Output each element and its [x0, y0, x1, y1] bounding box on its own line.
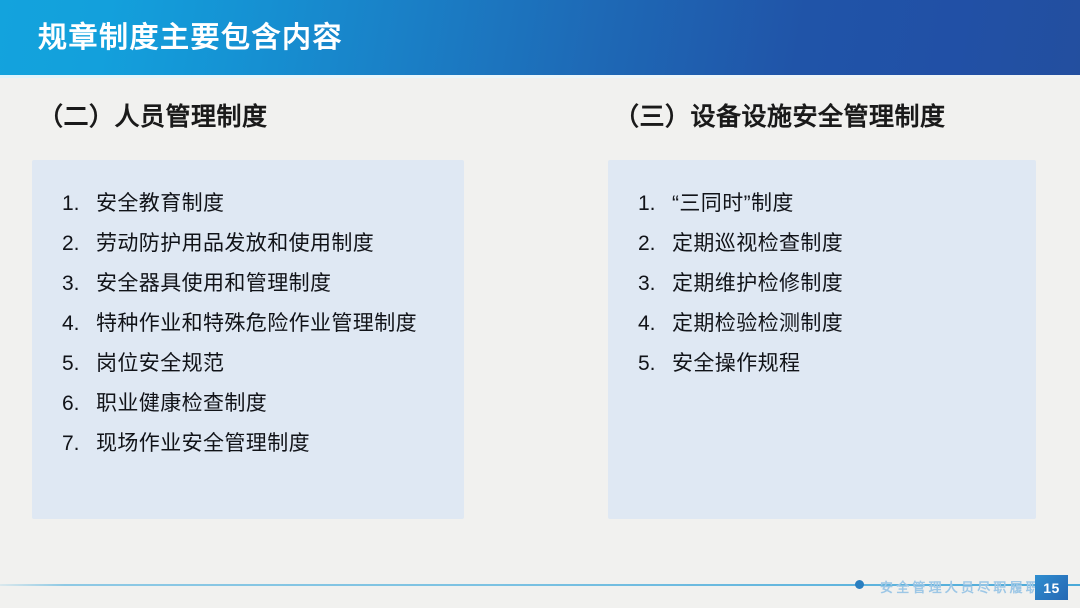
list-item: 4. 特种作业和特殊危险作业管理制度 [50, 310, 442, 338]
list-item-number: 5. [626, 350, 672, 378]
list-item-label: 定期巡视检查制度 [672, 230, 843, 258]
list-item-label: 安全教育制度 [96, 190, 224, 218]
list-item-number: 6. [50, 390, 96, 418]
list-item-label: 劳动防护用品发放和使用制度 [96, 230, 374, 258]
footer-dot-icon [855, 580, 864, 589]
list-item: 2. 劳动防护用品发放和使用制度 [50, 230, 442, 258]
list-item: 6. 职业健康检查制度 [50, 390, 442, 418]
list-item-number: 1. [626, 190, 672, 218]
list-card-right: 1. “三同时”制度 2. 定期巡视检查制度 3. 定期维护检修制度 4. 定期… [608, 160, 1036, 519]
list-left: 1. 安全教育制度 2. 劳动防护用品发放和使用制度 3. 安全器具使用和管理制… [50, 190, 442, 458]
list-item-number: 3. [50, 270, 96, 298]
list-item: 5. 安全操作规程 [626, 350, 1014, 378]
list-right: 1. “三同时”制度 2. 定期巡视检查制度 3. 定期维护检修制度 4. 定期… [626, 190, 1014, 378]
list-item: 3. 定期维护检修制度 [626, 270, 1014, 298]
list-item: 1. “三同时”制度 [626, 190, 1014, 218]
list-item-label: 安全器具使用和管理制度 [96, 270, 331, 298]
page-number-badge: 15 [1035, 575, 1068, 600]
list-item-label: 定期检验检测制度 [672, 310, 843, 338]
list-item: 5. 岗位安全规范 [50, 350, 442, 378]
list-item-number: 4. [626, 310, 672, 338]
list-item-label: 特种作业和特殊危险作业管理制度 [96, 310, 417, 338]
list-item-number: 1. [50, 190, 96, 218]
list-item-number: 5. [50, 350, 96, 378]
list-item: 4. 定期检验检测制度 [626, 310, 1014, 338]
list-item: 7. 现场作业安全管理制度 [50, 430, 442, 458]
list-item-label: 安全操作规程 [672, 350, 800, 378]
list-item-number: 3. [626, 270, 672, 298]
list-item-label: 职业健康检查制度 [96, 390, 267, 418]
header-underline [0, 75, 1080, 78]
page-title: 规章制度主要包含内容 [38, 19, 343, 57]
column-right: （三）设备设施安全管理制度 1. “三同时”制度 2. 定期巡视检查制度 3. … [608, 100, 1036, 519]
list-item: 1. 安全教育制度 [50, 190, 442, 218]
list-item-number: 2. [626, 230, 672, 258]
column-left: （二）人员管理制度 1. 安全教育制度 2. 劳动防护用品发放和使用制度 3. … [32, 100, 464, 519]
list-item-number: 4. [50, 310, 96, 338]
section-heading-right: （三）设备设施安全管理制度 [614, 100, 1036, 134]
list-item-number: 7. [50, 430, 96, 458]
list-item-number: 2. [50, 230, 96, 258]
list-item: 3. 安全器具使用和管理制度 [50, 270, 442, 298]
list-item-label: 现场作业安全管理制度 [96, 430, 310, 458]
section-heading-left: （二）人员管理制度 [38, 100, 464, 134]
list-item-label: “三同时”制度 [672, 190, 794, 218]
list-item: 2. 定期巡视检查制度 [626, 230, 1014, 258]
list-card-left: 1. 安全教育制度 2. 劳动防护用品发放和使用制度 3. 安全器具使用和管理制… [32, 160, 464, 519]
footer-label: 安全管理人员尽职履职 [880, 578, 1042, 598]
list-item-label: 定期维护检修制度 [672, 270, 843, 298]
list-item-label: 岗位安全规范 [96, 350, 224, 378]
